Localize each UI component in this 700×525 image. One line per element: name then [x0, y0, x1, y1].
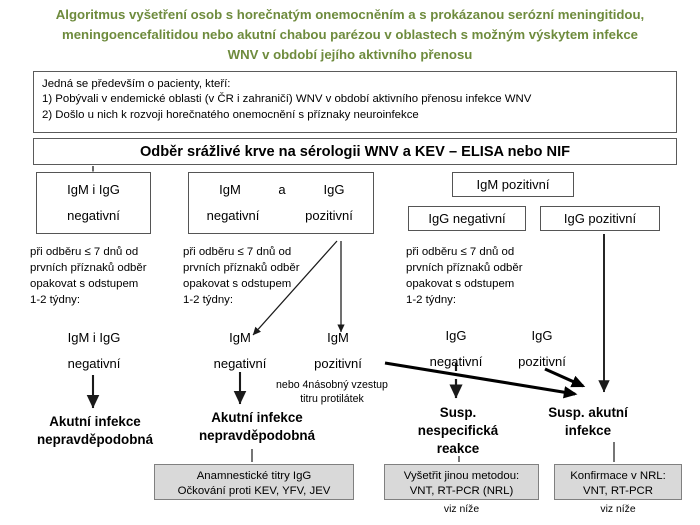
- confirmation-line-2: VNT, RT-PCR: [555, 484, 681, 499]
- row2-igg-positive-line-1: IgG: [492, 328, 592, 343]
- conclusion-left-line-1: Akutní infekce: [20, 413, 170, 431]
- row2-label-igg-positive: IgG pozitivní: [492, 328, 592, 369]
- see-below-note-right: viz níže: [554, 504, 682, 515]
- row2-label-igg-negative: IgG negativní: [406, 328, 506, 369]
- titre-note-line-2: titru protilátek: [258, 393, 406, 407]
- confirmation-line-1: Konfirmace v NRL:: [555, 469, 681, 484]
- row2-igg-negative-line-1: IgG: [406, 328, 506, 343]
- result-igg-label: IgG: [301, 182, 367, 197]
- see-below-note-left: viz níže: [384, 504, 539, 515]
- repeat-note-right-line-1: při odběru ≤ 7 dnů od: [406, 244, 566, 260]
- repeat-note-right-line-4: 1-2 týdny:: [406, 292, 566, 308]
- page-title: Algoritmus vyšetření osob s horečnatým o…: [10, 5, 690, 65]
- arrow-igg-positive-short: [545, 369, 583, 386]
- row2-igm-negative-line-2: negativní: [190, 356, 290, 371]
- criteria-line-1: Jedná se především o pacienty, kteří:: [42, 77, 668, 92]
- repeat-note-left-line-2: prvních příznaků odběr: [30, 260, 190, 276]
- conclusion-nonspecific-reaction: Susp. nespecifická reakce: [406, 404, 510, 458]
- conclusion-acute-unlikely-left: Akutní infekce nepravděpodobná: [20, 413, 170, 449]
- conclusion-nonspecific-line-1: Susp.: [406, 404, 510, 422]
- conclusion-acute-unlikely-middle: Akutní infekce nepravděpodobná: [182, 409, 332, 445]
- flowchart-page: Algoritmus vyšetření osob s horečnatým o…: [0, 0, 700, 525]
- repeat-note-left-line-4: 1-2 týdny:: [30, 292, 190, 308]
- result-igm-label: IgM: [197, 182, 263, 197]
- repeat-note-middle-line-3: opakovat s odstupem: [183, 276, 343, 292]
- row2-igg-negative-line-2: negativní: [406, 354, 506, 369]
- row2-igm-positive-line-2: pozitivní: [288, 356, 388, 371]
- gray-box-confirmation-nrl: Konfirmace v NRL: VNT, RT-PCR: [554, 464, 682, 500]
- repeat-sampling-note-middle: při odběru ≤ 7 dnů od prvních příznaků o…: [183, 244, 343, 308]
- other-method-line-2: VNT, RT-PCR (NRL): [385, 484, 538, 499]
- repeat-note-middle-line-4: 1-2 týdny:: [183, 292, 343, 308]
- titre-rise-note: nebo 4násobný vzestup titru protilátek: [258, 379, 406, 406]
- page-title-line-2: meningoencefalitidou nebo akutní chabou …: [10, 25, 690, 45]
- other-method-line-1: Vyšetřit jinou metodou:: [385, 469, 538, 484]
- repeat-note-middle-line-2: prvních příznaků odběr: [183, 260, 343, 276]
- conclusion-middle-line-2: nepravděpodobná: [182, 427, 332, 445]
- row2-label-igm-igg-negative: IgM i IgG negativní: [34, 330, 154, 371]
- gray-box-other-method: Vyšetřit jinou metodou: VNT, RT-PCR (NRL…: [384, 464, 539, 500]
- repeat-note-left-line-1: při odběru ≤ 7 dnů od: [30, 244, 190, 260]
- conclusion-suspected-line-2: infekce: [520, 422, 656, 440]
- repeat-note-middle-line-1: při odběru ≤ 7 dnů od: [183, 244, 343, 260]
- conclusion-suspected-line-1: Susp. akutní: [520, 404, 656, 422]
- conclusion-suspected-acute-infection: Susp. akutní infekce: [520, 404, 656, 440]
- result-conjunction-label: a: [263, 182, 301, 197]
- result-igm-igg-negative-line-1: IgM i IgG: [37, 182, 150, 197]
- repeat-note-right-line-2: prvních příznaků odběr: [406, 260, 566, 276]
- page-title-line-3: WNV v období jejího aktivního přenosu: [10, 45, 690, 65]
- conclusion-nonspecific-line-2: nespecifická: [406, 422, 510, 440]
- conclusion-nonspecific-line-3: reakce: [406, 440, 510, 458]
- result-igm-status: negativní: [195, 208, 271, 223]
- row2-igm-igg-negative-line-2: negativní: [34, 356, 154, 371]
- result-box-igm-negative-igg-positive: IgM a IgG negativní pozitivní: [188, 172, 374, 234]
- row2-label-igm-positive: IgM pozitivní: [288, 330, 388, 371]
- repeat-note-left-line-3: opakovat s odstupem: [30, 276, 190, 292]
- row2-igm-igg-negative-line-1: IgM i IgG: [34, 330, 154, 345]
- result-box-igm-igg-negative: IgM i IgG negativní: [36, 172, 151, 234]
- criteria-line-2: 1) Pobývali v endemické oblasti (v ČR i …: [42, 92, 668, 107]
- gray-box-anamnestic-titres: Anamnestické titry IgG Očkování proti KE…: [154, 464, 354, 500]
- repeat-sampling-note-right: při odběru ≤ 7 dnů od prvních příznaků o…: [406, 244, 566, 308]
- patient-criteria-box: Jedná se především o pacienty, kteří: 1)…: [33, 71, 677, 133]
- result-box-igm-positive: IgM pozitivní: [452, 172, 574, 197]
- row2-label-igm-negative: IgM negativní: [190, 330, 290, 371]
- titre-note-line-1: nebo 4násobný vzestup: [258, 379, 406, 393]
- row2-igg-positive-line-2: pozitivní: [492, 354, 592, 369]
- result-igm-igg-negative-line-2: negativní: [37, 208, 150, 223]
- conclusion-left-line-2: nepravděpodobná: [20, 431, 170, 449]
- row2-igm-negative-line-1: IgM: [190, 330, 290, 345]
- anamnestic-line-1: Anamnestické titry IgG: [155, 469, 353, 484]
- result-box-igg-negative: IgG negativní: [408, 206, 526, 231]
- row2-igm-positive-line-1: IgM: [288, 330, 388, 345]
- page-title-line-1: Algoritmus vyšetření osob s horečnatým o…: [10, 5, 690, 25]
- result-igg-status: pozitivní: [289, 208, 369, 223]
- sampling-step-box: Odběr srážlivé krve na sérologii WNV a K…: [33, 138, 677, 165]
- criteria-line-3: 2) Došlo u nich k rozvoji horečnatého on…: [42, 108, 668, 123]
- anamnestic-line-2: Očkování proti KEV, YFV, JEV: [155, 484, 353, 499]
- repeat-sampling-note-left: při odběru ≤ 7 dnů od prvních příznaků o…: [30, 244, 190, 308]
- result-box-igg-positive: IgG pozitivní: [540, 206, 660, 231]
- conclusion-middle-line-1: Akutní infekce: [182, 409, 332, 427]
- repeat-note-right-line-3: opakovat s odstupem: [406, 276, 566, 292]
